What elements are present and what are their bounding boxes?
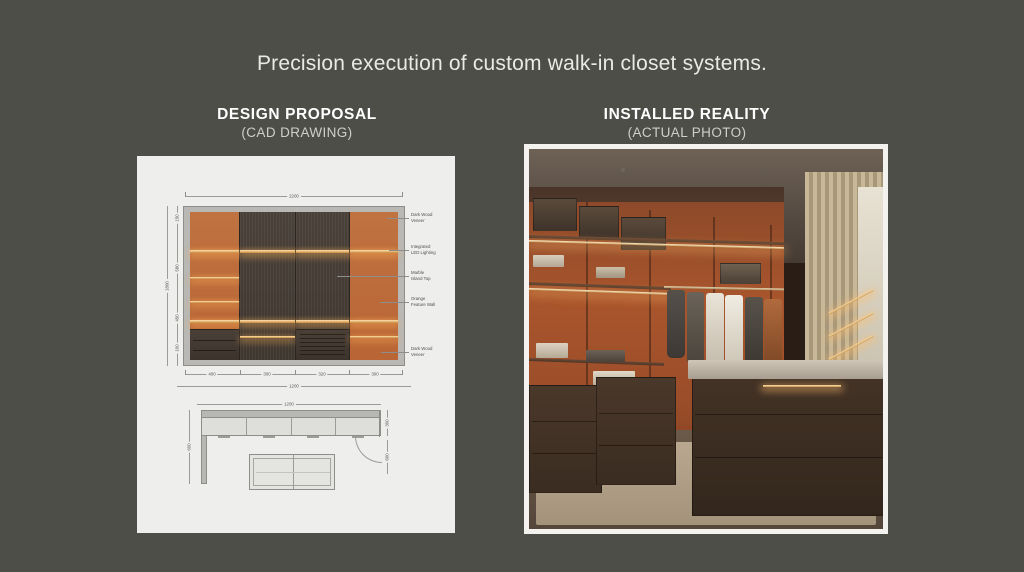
dim-tick (185, 370, 186, 375)
drawer-line (193, 340, 236, 341)
photo-storage-box (720, 263, 761, 284)
callout-leader (389, 250, 409, 251)
callout-marble-island-top: Marble Island Top (411, 270, 431, 282)
column-header-left: DESIGN PROPOSAL (CAD DRAWING) (137, 105, 457, 142)
photo-marble-island-top (688, 360, 883, 379)
design-proposal-subtitle: (CAD DRAWING) (137, 124, 457, 142)
elevation-bay-wood-1 (240, 212, 296, 360)
photo-dresser-left (529, 385, 602, 493)
elevation-height-dim: 1800 (165, 279, 170, 293)
elevation-seg-dim-3: 450 (175, 312, 180, 323)
bottom-seg-dim-3: 320 (316, 372, 327, 377)
ceiling-downlight-icon (621, 168, 625, 172)
callout-leader (337, 276, 409, 277)
callout-line: Feature Wall (411, 302, 435, 307)
dim-tick (349, 370, 350, 375)
callout-line: Veneer (411, 352, 425, 357)
callout-integrated-led-lighting: Integrated LED Lighting (411, 244, 436, 256)
drawer-line (532, 453, 599, 454)
callout-line: Marble (411, 270, 424, 275)
drawer-line (193, 350, 236, 351)
bottom-seg-dim-1: 400 (206, 372, 217, 377)
elevation-bay-left-orange (190, 212, 240, 360)
plan-pull (307, 436, 319, 438)
installed-photo-panel (524, 144, 888, 534)
led-shelf (240, 250, 295, 253)
photo-island (692, 369, 883, 515)
callout-line: Island Top (411, 276, 431, 281)
photo-hanging-garment (706, 293, 724, 365)
closet-photo (529, 149, 883, 529)
installed-reality-title: INSTALLED REALITY (527, 105, 847, 124)
drawer-slat (300, 342, 345, 343)
photo-storage-box (533, 198, 577, 230)
plan-island (249, 454, 335, 490)
cad-canvas: 2200 1800 150 580 450 100 (137, 156, 455, 533)
callout-orange-feature-wall: Orange Feature Wall (411, 296, 435, 308)
led-shelf (296, 250, 349, 253)
column-header-right: INSTALLED REALITY (ACTUAL PHOTO) (527, 105, 847, 142)
callout-dark-wood-veneer-top: Dark Wood Veneer (411, 212, 432, 224)
callout-line: Dark Wood (411, 346, 432, 351)
callout-leader (380, 302, 409, 303)
plan-divider (291, 417, 292, 435)
photo-hanging-garment (745, 297, 763, 365)
drawer-slat (300, 334, 345, 335)
led-shelf (190, 277, 239, 279)
plan-wardrobe-run (201, 410, 381, 436)
drawer-slat (300, 354, 345, 355)
elevation-drawer-unit (296, 329, 349, 360)
callout-line: Dark Wood (411, 212, 432, 217)
drawer-line (599, 413, 673, 414)
installed-reality-subtitle: (ACTUAL PHOTO) (527, 124, 847, 142)
photo-folded-garment (586, 350, 625, 361)
headline: Precision execution of custom walk-in cl… (0, 52, 1024, 76)
led-shelf (240, 320, 295, 323)
photo-hanging-garment (687, 292, 705, 364)
callout-leader (387, 218, 409, 219)
elevation-drawer-unit (190, 329, 239, 360)
plan-pull (218, 436, 230, 438)
dim-tick (295, 370, 296, 375)
plan-door-swing-arc (355, 436, 382, 463)
plan-right-dim-2: 600 (385, 451, 390, 462)
drawer-slat (300, 346, 345, 347)
elevation-bottom-overall-dim: 1200 (287, 384, 301, 389)
plan-right-dim-1: 300 (385, 417, 390, 428)
plan-divider (335, 417, 336, 435)
elevation-width-dim: 2200 (287, 194, 301, 199)
led-shelf (190, 320, 239, 323)
photo-folded-garment (596, 267, 624, 278)
callout-line: Veneer (411, 218, 425, 223)
plan-door-leaf (379, 411, 380, 437)
cad-drawing-panel: 2200 1800 150 580 450 100 (137, 156, 455, 533)
callout-dark-wood-veneer-bottom: Dark Wood Veneer (411, 346, 432, 358)
drawer-line (599, 445, 673, 446)
drawer-line (532, 421, 599, 422)
drawer-slat (300, 350, 345, 351)
dim-tick (185, 192, 186, 197)
led-shelf (296, 320, 349, 323)
drawer-line (695, 457, 882, 458)
photo-island-led (763, 385, 841, 387)
photo-hanging-garment (725, 295, 743, 367)
photo-hanging-garment (764, 299, 782, 367)
elevation-drawing (183, 206, 405, 366)
photo-folded-garment (536, 343, 568, 358)
plan-divider (246, 417, 247, 435)
bottom-seg-dim-2: 300 (261, 372, 272, 377)
elevation-bay-wood-2 (296, 212, 350, 360)
plan-island-midline (256, 472, 330, 473)
led-shelf (190, 250, 239, 253)
callout-line: Integrated (411, 244, 430, 249)
plan-pull (263, 436, 275, 438)
elevation-seg-dim-2: 580 (175, 262, 180, 273)
elevation-bay-right-orange (350, 212, 398, 360)
elevation-interior (190, 212, 398, 360)
bottom-seg-dim-4: 300 (369, 372, 380, 377)
plan-depth-dim: 600 (187, 441, 192, 452)
drawer-slat (300, 338, 345, 339)
dim-tick (402, 370, 403, 375)
led-shelf (350, 320, 398, 323)
dim-tick (402, 192, 403, 197)
photo-dresser-right (596, 377, 676, 485)
photo-folded-garment (533, 255, 565, 266)
dim-tick (240, 370, 241, 375)
callout-line: LED Lighting (411, 250, 436, 255)
led-shelf (350, 336, 398, 338)
comparison-slide: Precision execution of custom walk-in cl… (0, 0, 1024, 572)
led-shelf (240, 336, 295, 338)
photo-storage-box (579, 206, 620, 238)
elevation-seg-dim-4: 100 (175, 342, 180, 353)
led-shelf (190, 301, 239, 303)
design-proposal-title: DESIGN PROPOSAL (137, 105, 457, 124)
callout-leader (381, 352, 409, 353)
photo-hanging-garment (667, 290, 685, 358)
plan-drawing: 300 600 600 (183, 394, 405, 504)
callout-line: Orange (411, 296, 425, 301)
elevation-seg-dim-1: 150 (175, 212, 180, 223)
drawer-line (695, 414, 882, 415)
